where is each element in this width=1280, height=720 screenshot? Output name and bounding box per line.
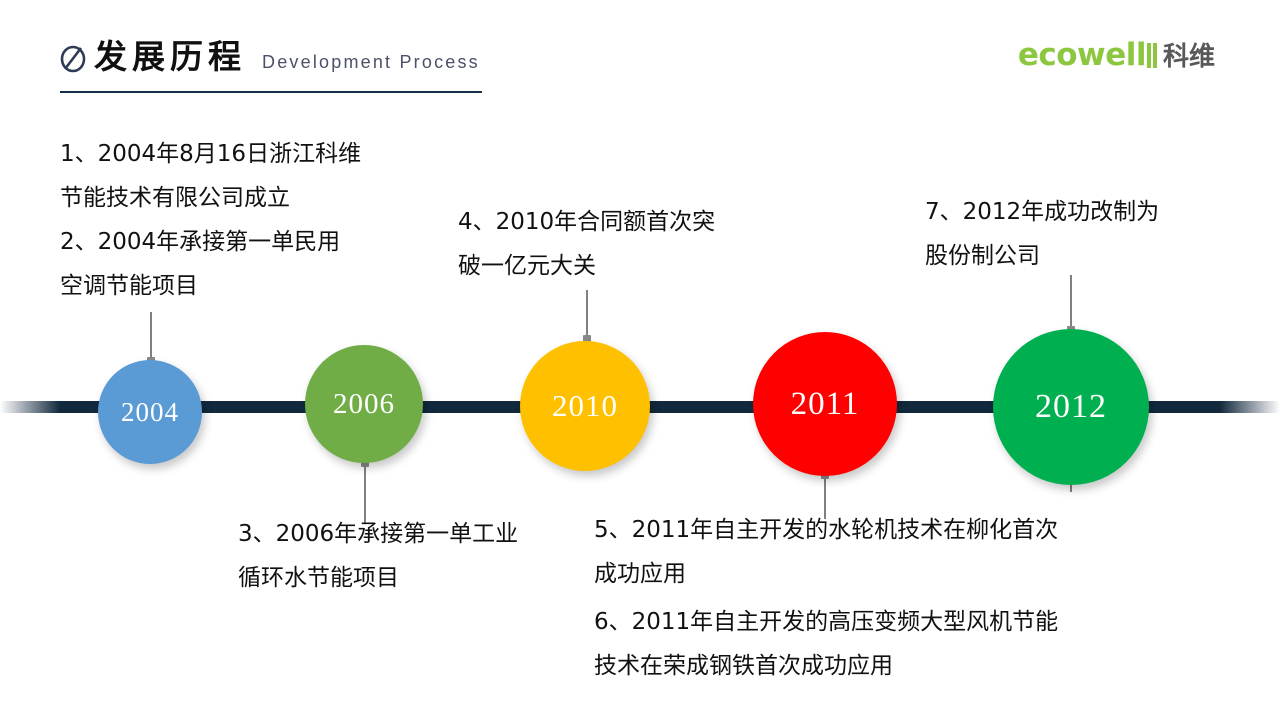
slide-canvas: 发展历程 Development Process ecowell 科维 2004… bbox=[0, 0, 1280, 720]
logo-wordmark: ecowell bbox=[1018, 37, 1146, 73]
title-chinese: 发展历程 bbox=[94, 30, 246, 78]
timeline-node-2006[interactable]: 2006 bbox=[305, 345, 423, 463]
note-2006: 3、2006年承接第一单工业 循环水节能项目 bbox=[238, 512, 518, 600]
note-2004-2005: 1、2004年8月16日浙江科维 节能技术有限公司成立 2、2004年承接第一单… bbox=[60, 132, 361, 308]
title-english: Development Process bbox=[262, 52, 480, 73]
timeline-fade-left bbox=[0, 401, 60, 413]
note-2012: 7、2012年成功改制为 股份制公司 bbox=[925, 190, 1159, 278]
connector-note4-to-2010 bbox=[586, 290, 588, 340]
timeline-node-label: 2004 bbox=[121, 397, 179, 428]
timeline-node-label: 2006 bbox=[333, 388, 395, 421]
timeline-node-2010[interactable]: 2010 bbox=[520, 341, 650, 471]
timeline-node-2012[interactable]: 2012 bbox=[993, 329, 1149, 485]
page-title: 发展历程 Development Process bbox=[58, 30, 480, 78]
slashed-circle-icon bbox=[58, 44, 88, 74]
timeline-node-label: 2010 bbox=[552, 388, 618, 424]
note-2011-fan: 6、2011年自主开发的高压变频大型风机节能 技术在荣成钢铁首次成功应用 bbox=[594, 600, 1058, 688]
brand-logo: ecowell 科维 bbox=[1018, 36, 1215, 73]
logo-chinese: 科维 bbox=[1163, 36, 1215, 73]
double-bar-icon bbox=[1147, 43, 1159, 68]
connector-note7-to-2012 bbox=[1070, 275, 1072, 331]
title-underline bbox=[60, 91, 482, 93]
timeline-node-label: 2011 bbox=[791, 386, 860, 423]
connector-note1-to-2004 bbox=[150, 312, 152, 362]
timeline-node-2011[interactable]: 2011 bbox=[753, 332, 897, 476]
timeline-fade-right bbox=[1220, 401, 1280, 413]
note-2011-hydro: 5、2011年自主开发的水轮机技术在柳化首次 成功应用 bbox=[594, 508, 1058, 596]
note-2010: 4、2010年合同额首次突 破一亿元大关 bbox=[458, 200, 715, 288]
timeline-node-2004[interactable]: 2004 bbox=[98, 360, 202, 464]
timeline-node-label: 2012 bbox=[1035, 388, 1107, 426]
